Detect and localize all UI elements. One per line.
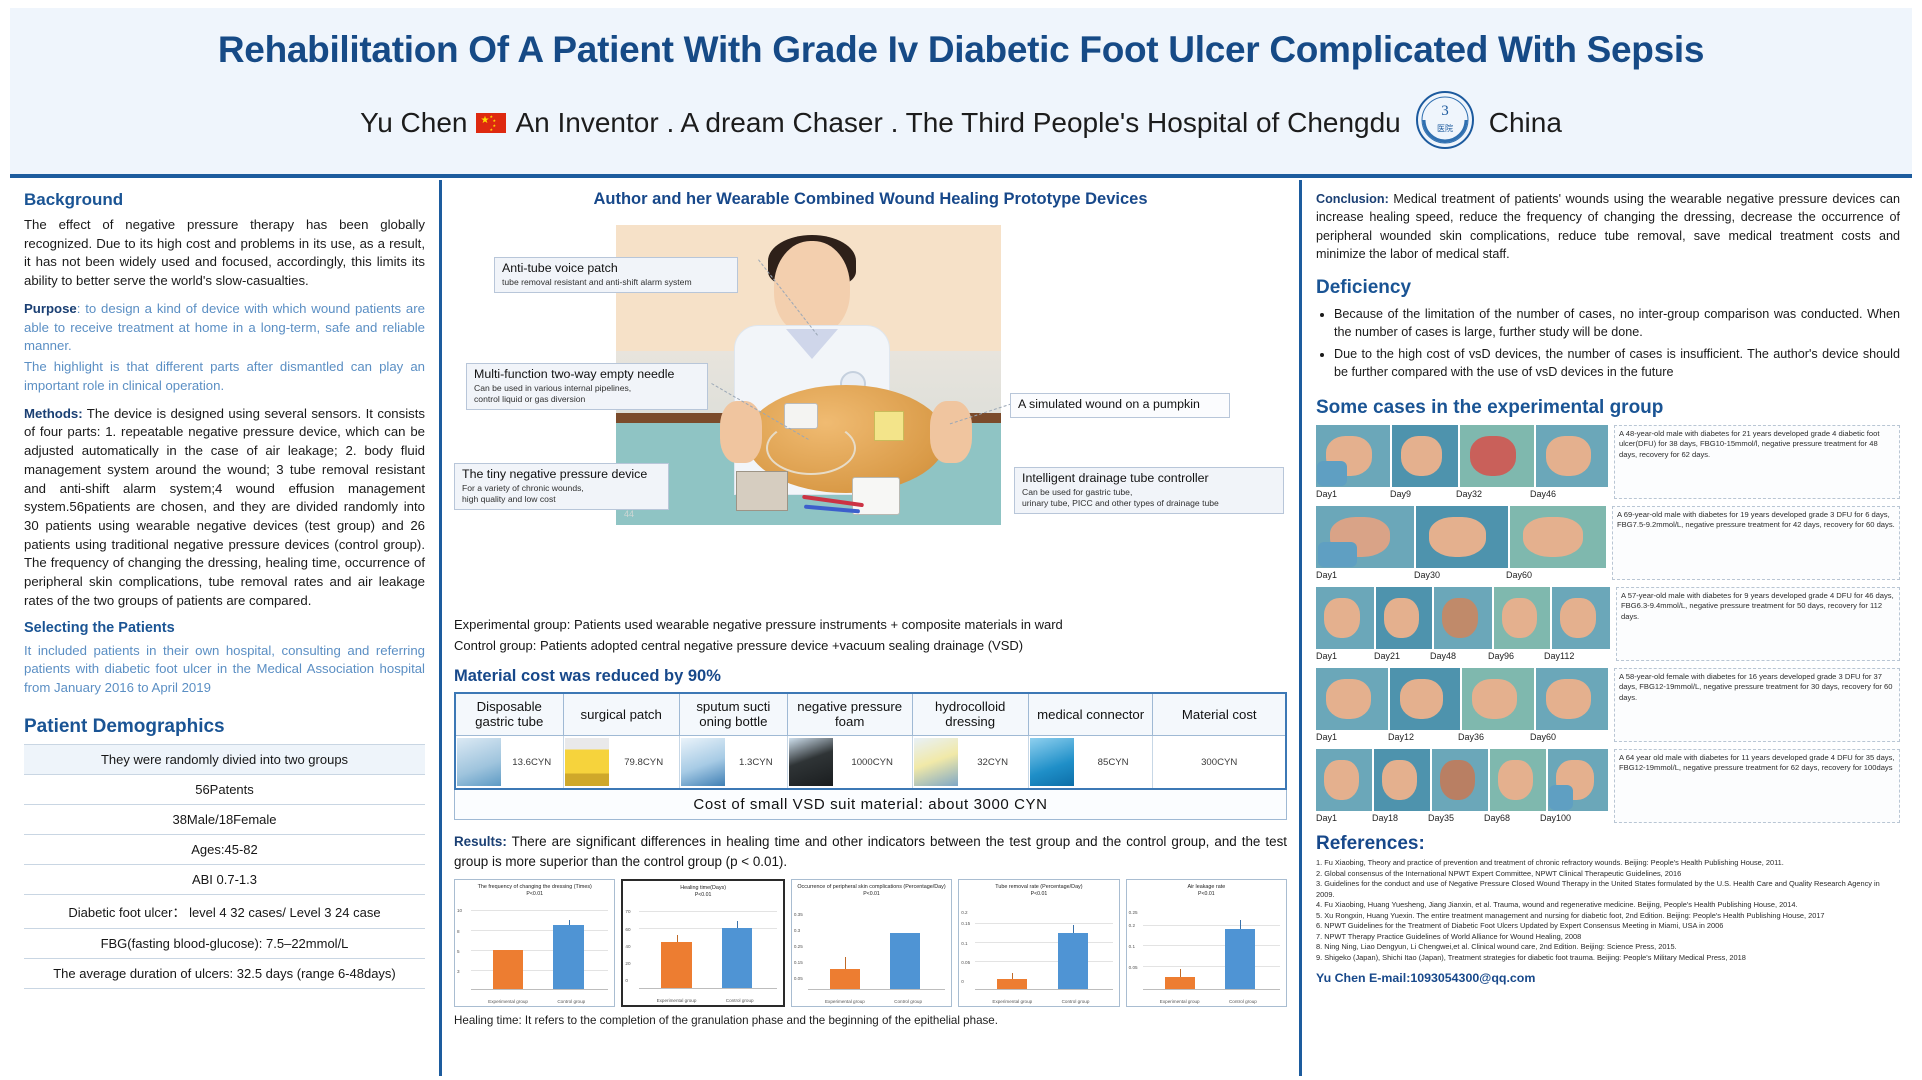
case-day-label: Day36 — [1458, 732, 1530, 742]
callout-subtitle: For a variety of chronic wounds, high qu… — [462, 483, 661, 505]
medical-connector-thumb — [1030, 738, 1074, 786]
methods-label: Methods: — [24, 406, 83, 421]
chart-subtitle: P<0.01 — [961, 891, 1116, 897]
case-day-label: Day48 — [1430, 651, 1488, 661]
chart-title: The frequency of changing the dressing (… — [457, 884, 612, 891]
case-day-label: Day60 — [1530, 732, 1602, 742]
cost-cell: 1000CYN — [787, 736, 912, 790]
heading-deficiency: Deficiency — [1316, 277, 1900, 299]
bar-control — [890, 933, 920, 991]
demographics-cell: ABI 0.7-1.3 — [24, 864, 425, 894]
photo-drainage-tube — [766, 421, 856, 475]
chart-title: Occurrence of peripheral skin complicati… — [794, 884, 949, 891]
poster-header: Rehabilitation Of A Patient With Grade I… — [10, 8, 1912, 178]
cost-cell: 300CYN — [1153, 736, 1286, 790]
chart-subtitle: P<0.01 — [794, 891, 949, 897]
case-day-label: Day1 — [1316, 651, 1374, 661]
cost-cell: 13.6CYN — [455, 736, 563, 790]
cost-value: 85CYN — [1074, 757, 1153, 768]
column-middle: Author and her Wearable Combined Wound H… — [442, 180, 1302, 1076]
reference-item: 2. Global consensus of the International… — [1316, 869, 1900, 880]
cost-header: hydrocolloid dressing — [912, 693, 1028, 736]
table-row: 38Male/18Female — [24, 804, 425, 834]
case-description: A 57-year-old male with diabetes for 9 y… — [1616, 587, 1900, 661]
reference-item: 3. Guidelines for the conduct and use of… — [1316, 879, 1900, 900]
page-title: Rehabilitation Of A Patient With Grade I… — [10, 30, 1912, 71]
case-day-label: Day1 — [1316, 732, 1388, 742]
experimental-group-line: Experimental group: Patients used wearab… — [454, 615, 1287, 636]
case-day-label: Day32 — [1456, 489, 1530, 499]
chart-title: Healing time(Days) — [625, 885, 780, 892]
poster-root: Rehabilitation Of A Patient With Grade I… — [0, 0, 1922, 1080]
svg-text:3: 3 — [1441, 103, 1449, 119]
demographics-cell: Diabetic foot ulcer： level 4 32 cases/ L… — [24, 894, 425, 928]
reference-item: 7. NPWT Therapy Practice Guidelines of W… — [1316, 932, 1900, 943]
demographics-cell: They were randomly divied into two group… — [24, 744, 425, 774]
case-row-5: Day1 Day18 Day35 Day68 Day100 A 64 year … — [1316, 749, 1900, 823]
chart-subtitle: P<0.01 — [625, 892, 780, 898]
cost-value: 79.8CYN — [609, 757, 679, 768]
case-description: A 58-year-old female with diabetes for 1… — [1614, 668, 1900, 742]
purpose-text: : to design a kind of device with which … — [24, 301, 425, 353]
table-row: ABI 0.7-1.3 — [24, 864, 425, 894]
table-row: Diabetic foot ulcer： level 4 32 cases/ L… — [24, 894, 425, 928]
callout-title: Anti-tube voice patch — [502, 261, 618, 275]
callout-drainage-tube-controller: Intelligent drainage tube controller Can… — [1014, 467, 1284, 514]
bar-control — [1225, 929, 1255, 990]
bar-experimental — [661, 942, 691, 989]
cost-header: surgical patch — [563, 693, 679, 736]
cost-header: Disposable gastric tube — [455, 693, 563, 736]
photo-simulated-wound — [874, 411, 904, 441]
table-row: 56Patents — [24, 774, 425, 804]
results-text: There are significant differences in hea… — [454, 834, 1287, 868]
case-images: Day1 Day18 Day35 Day68 Day100 — [1316, 749, 1608, 823]
china-flag-icon: ★ ★ ★ ★ ★ — [476, 113, 506, 133]
case-images: Day1 Day12 Day36 Day60 — [1316, 668, 1608, 742]
photo-hand-left — [720, 401, 762, 463]
prototype-photo-panel: 44 Anti-tube voice patch tube removal re… — [454, 215, 1287, 615]
contact-email: Yu Chen E-mail:1093054300@qq.com — [1316, 971, 1900, 985]
photo-voice-patch-device — [784, 403, 818, 429]
chart-plot-area: 0.20.15 0.10.05 0 Experimental groupCont… — [975, 910, 1112, 990]
callout-two-way-needle: Multi-function two-way empty needle Can … — [466, 363, 708, 410]
material-cost-table: Disposable gastric tube surgical patch s… — [454, 692, 1287, 791]
case-description: A 48-year-old male with diabetes for 21 … — [1614, 425, 1900, 499]
highlight-paragraph: The highlight is that different parts af… — [24, 358, 425, 395]
heading-material-cost: Material cost was reduced by 90% — [454, 667, 1287, 686]
case-day-label: Day12 — [1388, 732, 1458, 742]
heading-references: References: — [1316, 833, 1900, 855]
reference-item: 5. Xu Rongxin, Huang Yuexin. The entire … — [1316, 911, 1900, 922]
photo-watermark: 44 — [624, 509, 634, 519]
cost-table-footer: Cost of small VSD suit material: about 3… — [454, 790, 1287, 820]
purpose-label: Purpose — [24, 301, 77, 316]
references-list: 1. Fu Xiaobing, Theory and practice of p… — [1316, 858, 1900, 963]
demographics-cell: 56Patents — [24, 774, 425, 804]
reference-item: 8. Ning Ning, Liao Dengyun, Li Chengwei,… — [1316, 942, 1900, 953]
case-row-1: Day1 Day9 Day32 Day46 A 48-year-old male… — [1316, 425, 1900, 499]
chart-tube-removal-rate: Tube removal rate (Percentage/Day) P<0.0… — [958, 879, 1119, 1007]
case-day-label: Day21 — [1374, 651, 1430, 661]
flag-star-large: ★ — [480, 116, 489, 126]
case-day-label: Day68 — [1484, 813, 1540, 823]
reference-item: 1. Fu Xiaobing, Theory and practice of p… — [1316, 858, 1900, 869]
cost-header: medical connector — [1028, 693, 1153, 736]
callout-title: The tiny negative pressure device — [462, 467, 647, 481]
callout-anti-tube-voice-patch: Anti-tube voice patch tube removal resis… — [494, 257, 738, 293]
photo-head — [774, 241, 850, 335]
case-row-2: Day1 Day30 Day60 A 69-year-old male with… — [1316, 506, 1900, 580]
surgical-patch-thumb — [565, 738, 609, 786]
demographics-cell: The average duration of ulcers: 32.5 day… — [24, 958, 425, 988]
callout-subtitle: Can be used for gastric tube, urinary tu… — [1022, 487, 1276, 509]
heading-cases: Some cases in the experimental group — [1316, 397, 1900, 419]
bar-control — [722, 928, 752, 989]
table-row: 13.6CYN 79.8CYN 1.3CYN 1000CYN 32CYN 85C… — [455, 736, 1286, 790]
author-name: Yu Chen — [360, 107, 467, 139]
cost-value: 13.6CYN — [501, 757, 563, 768]
cost-cell: 1.3CYN — [679, 736, 787, 790]
affiliation-text: An Inventor . A dream Chaser . The Third… — [515, 107, 1400, 139]
column-left: Background The effect of negative pressu… — [10, 180, 442, 1076]
case-row-3: Day1 Day21 Day48 Day96 Day112 A 57-year-… — [1316, 587, 1900, 661]
chart-title: Tube removal rate (Percentage/Day) — [961, 884, 1116, 891]
cost-value: 1.3CYN — [725, 757, 787, 768]
case-row-4: Day1 Day12 Day36 Day60 A 58-year-old fem… — [1316, 668, 1900, 742]
case-day-label: Day18 — [1372, 813, 1428, 823]
svg-text:医院: 医院 — [1437, 123, 1453, 133]
author-line: Yu Chen ★ ★ ★ ★ ★ An Inventor . A dream … — [10, 89, 1912, 158]
reference-item: 4. Fu Xiaobing, Huang Yuesheng, Jiang Ji… — [1316, 900, 1900, 911]
flag-star-4: ★ — [489, 128, 493, 132]
reference-item: 9. Shigeko (Japan), Shichi Itao (Japan),… — [1316, 953, 1900, 964]
callout-title: Multi-function two-way empty needle — [474, 367, 674, 381]
control-group-line: Control group: Patients adopted central … — [454, 636, 1287, 657]
chart-subtitle: P<0.01 — [457, 891, 612, 897]
column-right: Conclusion: Medical treatment of patient… — [1302, 180, 1912, 1076]
bar-control — [1058, 933, 1088, 991]
conclusion-label: Conclusion: — [1316, 192, 1389, 206]
photo-negative-pressure-device — [736, 471, 788, 511]
results-charts-row: The frequency of changing the dressing (… — [454, 879, 1287, 1007]
heading-patient-demographics: Patient Demographics — [24, 716, 425, 738]
case-images: Day1 Day30 Day60 — [1316, 506, 1606, 580]
patient-demographics-table: They were randomly divied into two group… — [24, 744, 425, 989]
case-day-label: Day46 — [1530, 489, 1602, 499]
methods-text: The device is designed using several sen… — [24, 406, 425, 608]
purpose-paragraph: Purpose: to design a kind of device with… — [24, 300, 425, 356]
case-day-label: Day60 — [1506, 570, 1602, 580]
hydrocolloid-dressing-thumb — [914, 738, 958, 786]
suction-bottle-thumb — [681, 738, 725, 786]
chart-footnote: Healing time: It refers to the completio… — [454, 1014, 1287, 1027]
selecting-paragraph: It included patients in their own hospit… — [24, 642, 425, 698]
chart-air-leakage-rate: Air leakage rate P<0.01 0.250.2 0.10.05 … — [1126, 879, 1287, 1007]
table-row: FBG(fasting blood-glucose): 7.5–22mmol/L — [24, 928, 425, 958]
conclusion-paragraph: Conclusion: Medical treatment of patient… — [1316, 190, 1900, 263]
chart-healing-time: Healing time(Days) P<0.01 7060 4020 0 Ex… — [621, 879, 784, 1007]
case-description: A 69-year-old male with diabetes for 19 … — [1612, 506, 1900, 580]
case-images: Day1 Day21 Day48 Day96 Day112 — [1316, 587, 1610, 661]
list-item: Due to the high cost of vsD devices, the… — [1334, 345, 1900, 382]
cost-value: 300CYN — [1153, 757, 1285, 768]
table-row: Ages:45-82 — [24, 834, 425, 864]
chart-plot-area: 0.250.2 0.10.05 Experimental groupContro… — [1143, 910, 1280, 990]
gastric-tube-thumb — [457, 738, 501, 786]
demographics-cell: FBG(fasting blood-glucose): 7.5–22mmol/L — [24, 928, 425, 958]
results-label: Results: — [454, 834, 507, 849]
country-text: China — [1489, 107, 1562, 139]
chart-title: Air leakage rate — [1129, 884, 1284, 891]
demographics-cell: 38Male/18Female — [24, 804, 425, 834]
results-paragraph: Results: There are significant differenc… — [454, 832, 1287, 871]
photo-hand-right — [930, 401, 972, 463]
case-day-label: Day1 — [1316, 489, 1390, 499]
case-day-label: Day1 — [1316, 570, 1414, 580]
cost-cell: 85CYN — [1028, 736, 1153, 790]
cost-header: sputum sucti oning bottle — [679, 693, 787, 736]
case-day-label: Day30 — [1414, 570, 1506, 580]
chart-plot-area: 7060 4020 0 Experimental groupControl gr… — [639, 911, 776, 989]
cost-value: 32CYN — [958, 757, 1028, 768]
callout-subtitle: tube removal resistant and anti-shift al… — [502, 277, 730, 288]
callout-tiny-negative-pressure-device: The tiny negative pressure device For a … — [454, 463, 669, 510]
case-day-label: Day9 — [1390, 489, 1456, 499]
callout-title: A simulated wound on a pumpkin — [1018, 397, 1200, 411]
reference-item: 6. NPWT Guidelines for the Treatment of … — [1316, 921, 1900, 932]
case-day-label: Day112 — [1544, 651, 1602, 661]
bar-experimental — [493, 950, 523, 990]
heading-photo-panel: Author and her Wearable Combined Wound H… — [454, 190, 1287, 209]
case-day-label: Day35 — [1428, 813, 1484, 823]
callout-simulated-wound: A simulated wound on a pumpkin — [1010, 393, 1230, 418]
case-day-label: Day96 — [1488, 651, 1544, 661]
cost-header: negative pressure foam — [787, 693, 912, 736]
chart-plot-area: 0.350.3 0.250.15 0.05 Experimental group… — [808, 910, 945, 990]
table-header-row: Disposable gastric tube surgical patch s… — [455, 693, 1286, 736]
bar-control — [553, 925, 583, 991]
callout-title: Intelligent drainage tube controller — [1022, 471, 1209, 485]
chart-plot-area: 108 53 Experimental groupControl group — [471, 910, 608, 990]
case-day-label: Day100 — [1540, 813, 1600, 823]
hospital-logo-icon: 3 医院 — [1414, 89, 1476, 158]
callout-subtitle: Can be used in various internal pipeline… — [474, 383, 700, 405]
table-row: They were randomly divied into two group… — [24, 744, 425, 774]
cost-cell: 79.8CYN — [563, 736, 679, 790]
deficiency-list: Because of the limitation of the number … — [1334, 305, 1900, 381]
table-row: The average duration of ulcers: 32.5 day… — [24, 958, 425, 988]
methods-paragraph: Methods: The device is designed using se… — [24, 405, 425, 611]
background-paragraph: The effect of negative pressure therapy … — [24, 216, 425, 291]
chart-subtitle: P<0.01 — [1129, 891, 1284, 897]
chart-skin-complications: Occurrence of peripheral skin complicati… — [791, 879, 952, 1007]
cost-header: Material cost — [1153, 693, 1286, 736]
demographics-cell: Ages:45-82 — [24, 834, 425, 864]
case-description: A 64 year old male with diabetes for 11 … — [1614, 749, 1900, 823]
heading-background: Background — [24, 190, 425, 210]
bar-experimental — [830, 969, 860, 990]
list-item: Because of the limitation of the number … — [1334, 305, 1900, 342]
chart-dressing-frequency: The frequency of changing the dressing (… — [454, 879, 615, 1007]
heading-selecting-patients: Selecting the Patients — [24, 620, 425, 636]
case-images: Day1 Day9 Day32 Day46 — [1316, 425, 1608, 499]
pressure-foam-thumb — [789, 738, 833, 786]
case-day-label: Day1 — [1316, 813, 1372, 823]
cost-cell: 32CYN — [912, 736, 1028, 790]
conclusion-text: Medical treatment of patients' wounds us… — [1316, 192, 1900, 261]
poster-columns: Background The effect of negative pressu… — [10, 180, 1912, 1076]
cost-value: 1000CYN — [833, 757, 912, 768]
